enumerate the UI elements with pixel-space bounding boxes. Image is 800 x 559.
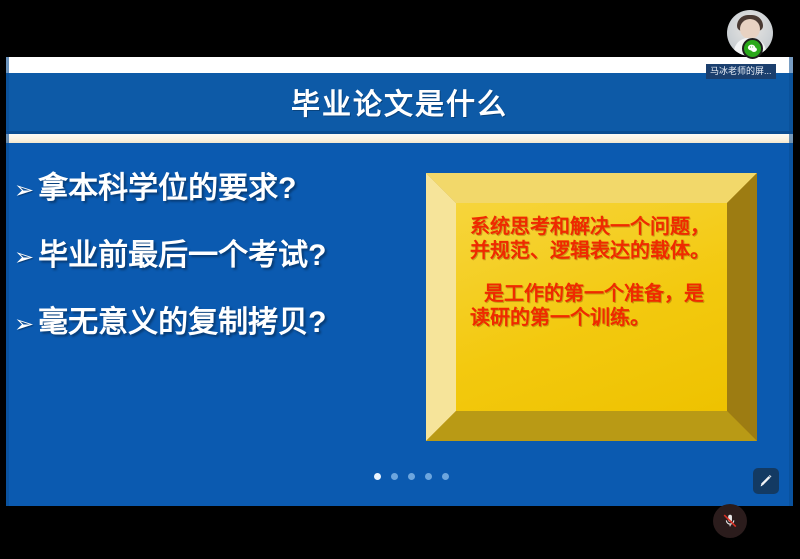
microphone-button[interactable]	[713, 504, 747, 538]
bullet-item-2: ➢ 毕业前最后一个考试?	[14, 239, 414, 272]
callout-box: 系统思考和解决一个问题，并规范、逻辑表达的载体。 是工作的第一个准备，是读研的第…	[426, 173, 757, 441]
bullet-list: ➢ 拿本科学位的要求? ➢ 毕业前最后一个考试? ➢ 毫无意义的复制拷贝?	[14, 172, 414, 373]
pagination-dot-3[interactable]	[408, 473, 415, 480]
arrow-bullet-icon: ➢	[14, 313, 34, 337]
slide-pagination[interactable]	[374, 473, 449, 480]
pagination-dot-4[interactable]	[425, 473, 432, 480]
wechat-badge-icon	[742, 38, 763, 59]
microphone-muted-icon	[721, 512, 739, 530]
screen-share-window: 毕业论文是什么 ➢ 拿本科学位的要求? ➢ 毕业前最后一个考试? ➢ 毫无意义的…	[0, 0, 800, 559]
bullet-item-3: ➢ 毫无意义的复制拷贝?	[14, 306, 414, 339]
bullet-item-1: ➢ 拿本科学位的要求?	[14, 172, 414, 205]
pagination-dot-5[interactable]	[442, 473, 449, 480]
pen-annotate-icon	[758, 473, 774, 489]
frame-top-bevel	[426, 173, 757, 203]
slide-right-edge	[789, 57, 793, 506]
frame-left-bevel	[426, 173, 456, 441]
pagination-dot-2[interactable]	[391, 473, 398, 480]
bullet-item-2-label: 毕业前最后一个考试?	[38, 239, 326, 272]
shared-slide: 毕业论文是什么 ➢ 拿本科学位的要求? ➢ 毕业前最后一个考试? ➢ 毫无意义的…	[6, 57, 793, 506]
bullet-item-3-label: 毫无意义的复制拷贝?	[38, 306, 326, 339]
avatar[interactable]	[727, 10, 773, 56]
annotate-button[interactable]	[753, 468, 779, 494]
arrow-bullet-icon: ➢	[14, 179, 34, 203]
pagination-dot-1[interactable]	[374, 473, 381, 480]
callout-content: 系统思考和解决一个问题，并规范、逻辑表达的载体。 是工作的第一个准备，是读研的第…	[456, 203, 727, 411]
page-title: 毕业论文是什么	[291, 81, 508, 123]
slide-title-band: 毕业论文是什么	[6, 73, 793, 131]
bullet-item-1-label: 拿本科学位的要求?	[38, 172, 296, 205]
frame-right-bevel	[727, 173, 757, 441]
share-owner-label: 马冰老师的屏...	[706, 64, 776, 79]
slide-left-edge	[6, 57, 9, 506]
callout-paragraph-2: 是工作的第一个准备，是读研的第一个训练。	[470, 282, 717, 331]
wechat-glyph-icon	[747, 43, 758, 54]
frame-bottom-bevel	[426, 411, 757, 441]
callout-paragraph-1: 系统思考和解决一个问题，并规范、逻辑表达的载体。	[470, 215, 717, 264]
slide-cream-divider	[6, 134, 793, 143]
avatar-face	[740, 19, 760, 39]
slide-top-white-band	[6, 57, 793, 73]
arrow-bullet-icon: ➢	[14, 246, 34, 270]
